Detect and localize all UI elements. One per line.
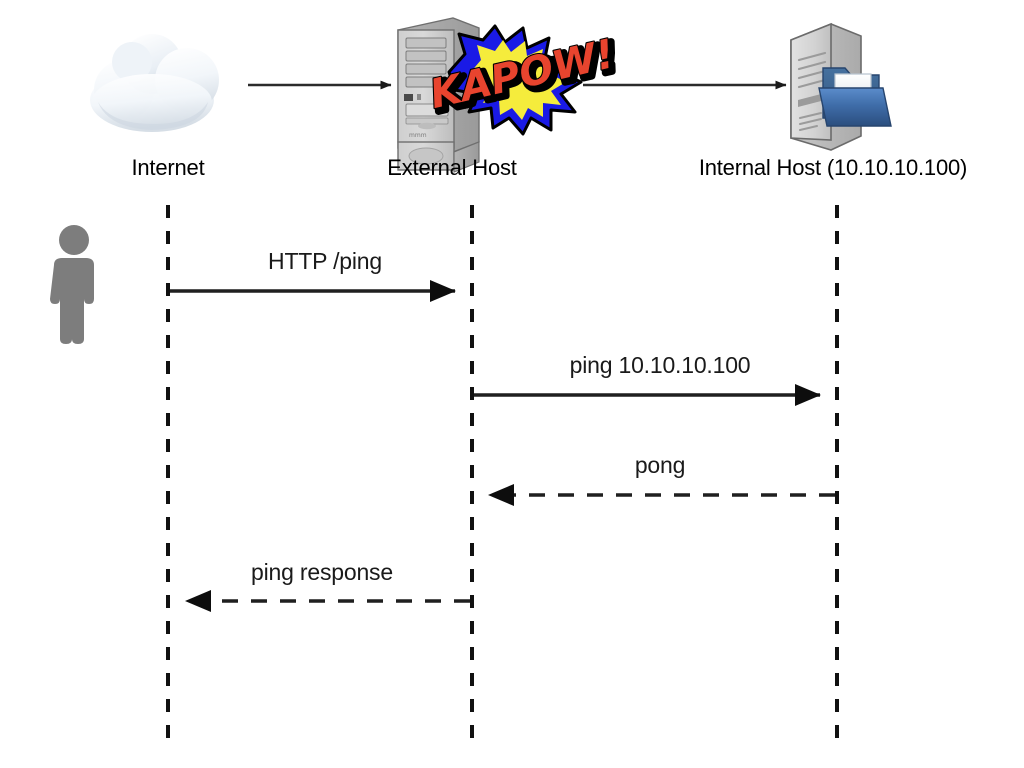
- svg-text:mmm: mmm: [409, 132, 427, 139]
- person-icon: [50, 225, 94, 344]
- message-label-pong: pong: [560, 452, 760, 479]
- message-label-ping-internal: ping 10.10.10.100: [500, 352, 820, 379]
- folder-icon: [819, 68, 891, 126]
- cloud-icon: [90, 34, 219, 132]
- message-label-ping-response: ping response: [192, 559, 452, 586]
- sequence-diagram-canvas: mmm KAPOW! KAPOW!: [0, 0, 1024, 768]
- participant-label-internal-host: Internal Host (10.10.10.100): [653, 155, 1013, 181]
- diagram-svg: mmm KAPOW! KAPOW!: [0, 0, 1024, 768]
- participant-label-external-host: External Host: [352, 155, 552, 181]
- participant-label-internet: Internet: [68, 155, 268, 181]
- message-label-http-ping: HTTP /ping: [195, 248, 455, 275]
- server-folder-icon: [791, 24, 891, 150]
